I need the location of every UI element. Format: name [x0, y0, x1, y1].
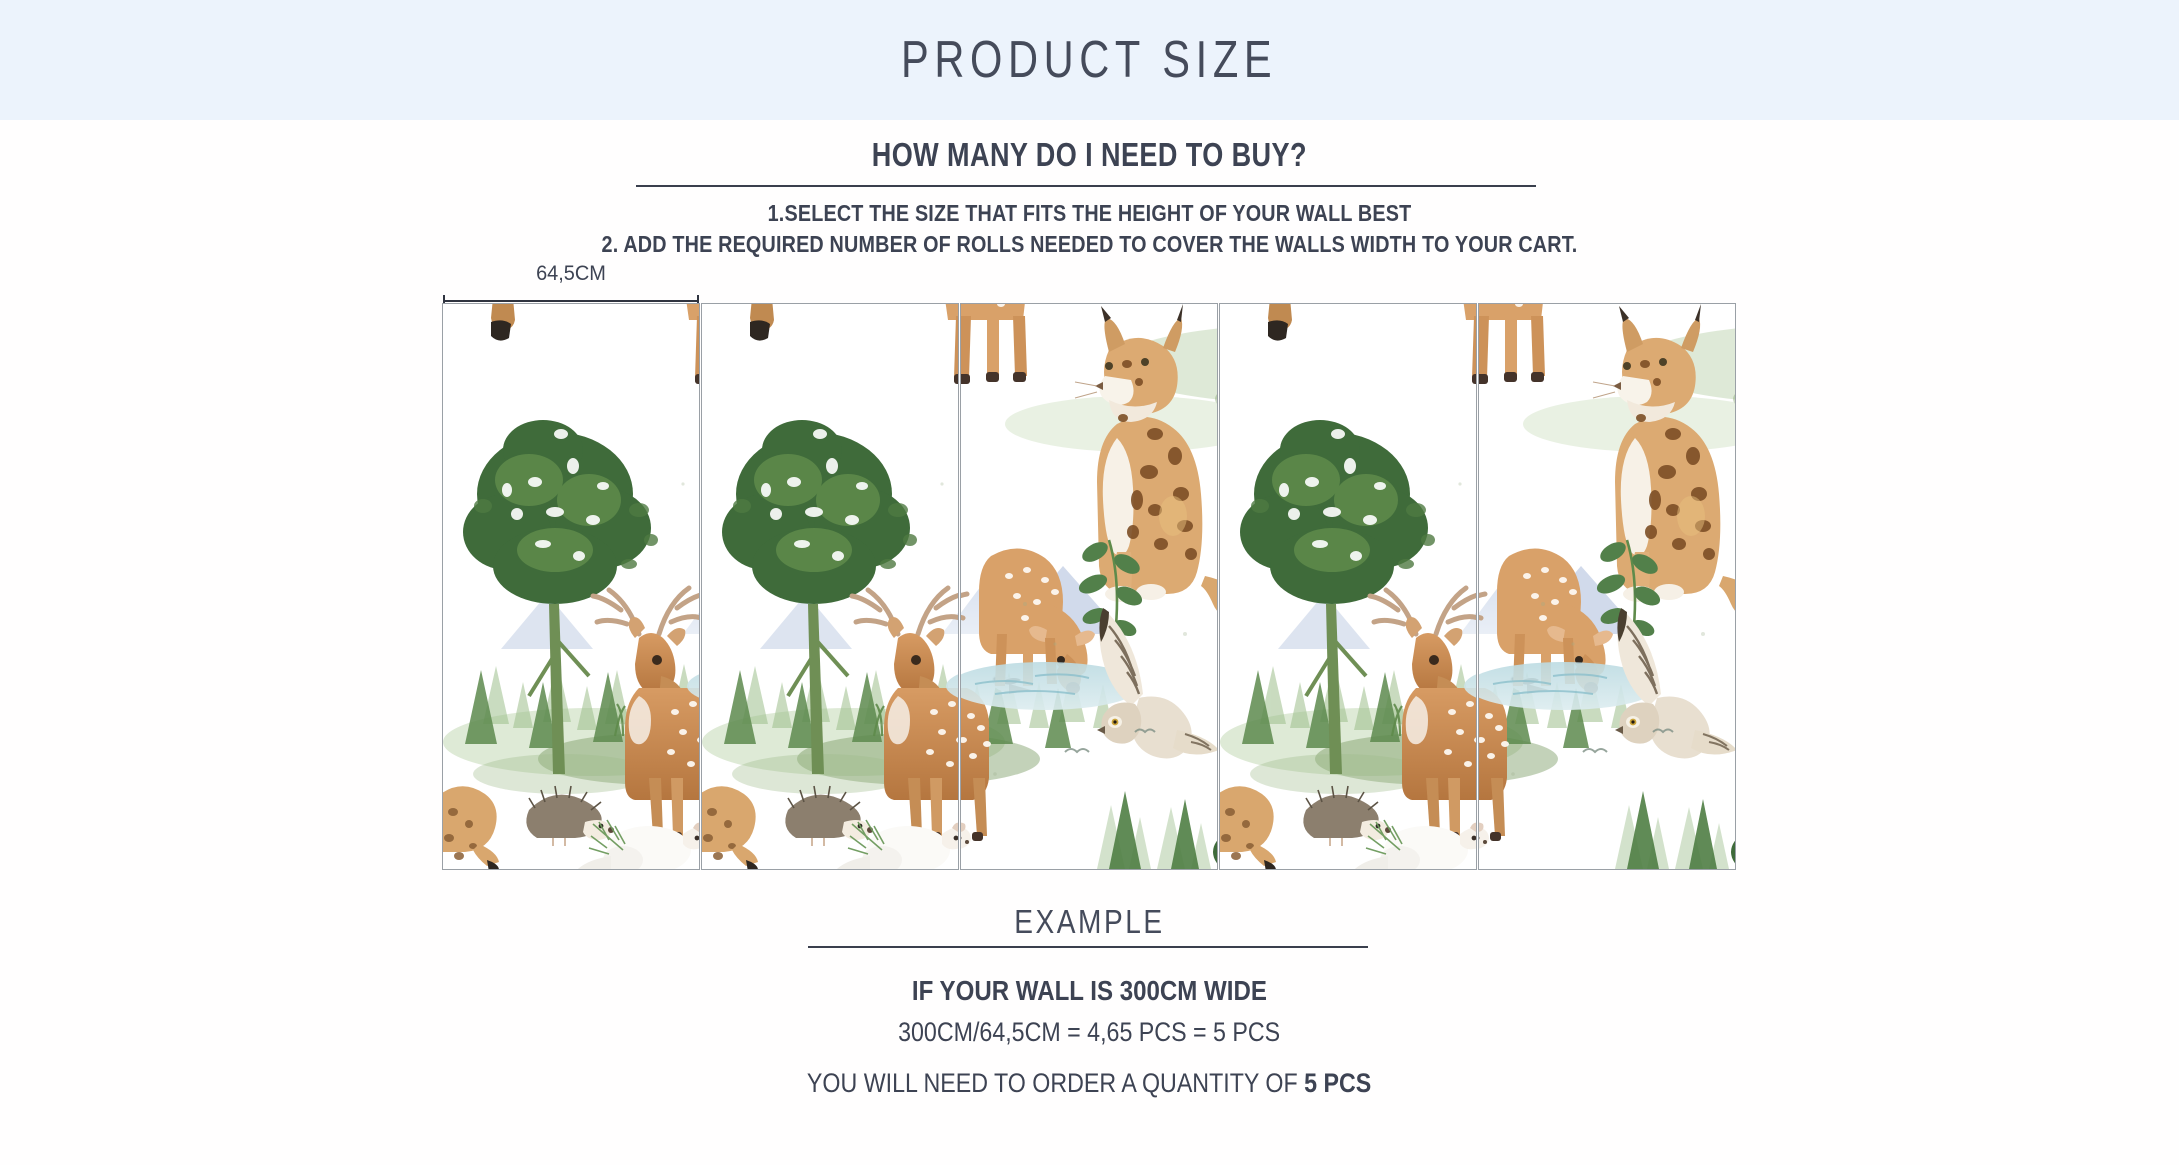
- instruction-step-2: 2. ADD THE REQUIRED NUMBER OF ROLLS NEED…: [153, 229, 2027, 260]
- example-order-amount: 5 PCS: [1305, 1068, 1372, 1098]
- product-size-banner: PRODUCT SIZE: [0, 0, 2179, 120]
- example-wall-width-text: IF YOUR WALL IS 300CM WIDE: [912, 975, 1267, 1007]
- instructions-list: 1.SELECT THE SIZE THAT FITS THE HEIGHT O…: [0, 198, 2179, 260]
- instruction-step-1: 1.SELECT THE SIZE THAT FITS THE HEIGHT O…: [153, 198, 2027, 229]
- wallpaper-panel-4[interactable]: [1219, 303, 1477, 870]
- divider-top: [636, 185, 1536, 187]
- subheading-block: HOW MANY DO I NEED TO BUY?: [0, 136, 2179, 174]
- example-wall-width: IF YOUR WALL IS 300CM WIDE: [0, 975, 2179, 1007]
- wallpaper-panel-strip: [442, 303, 1738, 869]
- page-title: PRODUCT SIZE: [901, 30, 1277, 90]
- dimension-bar: [443, 300, 699, 302]
- subheading: HOW MANY DO I NEED TO BUY?: [872, 136, 1307, 174]
- divider-example: [808, 946, 1368, 948]
- example-calculation: 300CM/64,5CM = 4,65 PCS = 5 PCS: [0, 1017, 2179, 1048]
- example-calculation-text: 300CM/64,5CM = 4,65 PCS = 5 PCS: [898, 1017, 1280, 1048]
- example-order-quantity: YOU WILL NEED TO ORDER A QUANTITY OF 5 P…: [0, 1068, 2179, 1099]
- wallpaper-panel-2[interactable]: [701, 303, 959, 870]
- example-heading: EXAMPLE: [1014, 903, 1164, 941]
- example-order-prefix: YOU WILL NEED TO ORDER A QUANTITY OF: [807, 1068, 1304, 1098]
- wallpaper-panel-3[interactable]: [960, 303, 1218, 870]
- example-block: EXAMPLE: [0, 903, 2179, 941]
- width-dimension-label: 64,5CM: [448, 262, 693, 286]
- wallpaper-panel-1[interactable]: [442, 303, 700, 870]
- wallpaper-panel-5[interactable]: [1478, 303, 1736, 870]
